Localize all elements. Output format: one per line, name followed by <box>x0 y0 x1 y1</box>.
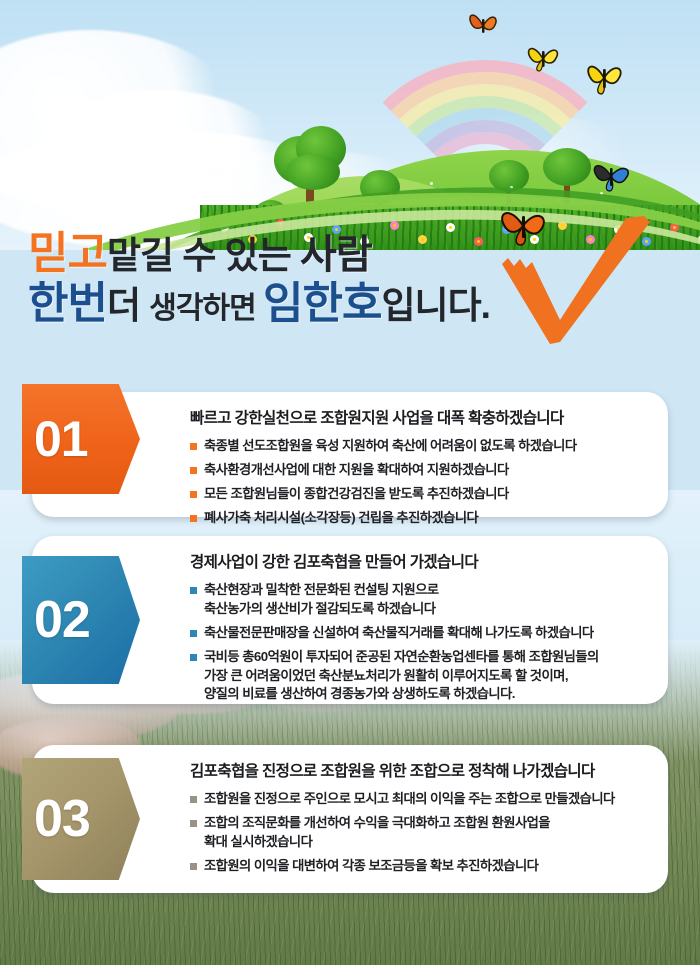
section-2-number-badge: 02 <box>22 556 140 684</box>
headline-word-saram: 사람 <box>300 233 372 277</box>
list-item: 축종별 선도조합원을 육성 지원하여 축산에 어려움이 없도록 하겠습니다 <box>190 437 650 456</box>
headline-word-saenggakhamyeon: 생각하면 <box>149 292 263 325</box>
headline-word-deo: 더 <box>107 285 149 326</box>
section-2-title: 경제사업이 강한 김포축협을 만들어 가겠습니다 <box>190 550 650 572</box>
list-item: 조합원을 진정으로 주인으로 모시고 최대의 이익을 주는 조합으로 만들겠습니… <box>190 790 650 809</box>
bullet-text: 축종별 선도조합원을 육성 지원하여 축산에 어려움이 없도록 하겠습니다 <box>204 437 577 456</box>
bullet-square-icon <box>190 820 197 827</box>
section-1-number: 01 <box>22 410 88 468</box>
section-1-title: 빠르고 강한실천으로 조합원지원 사업을 대폭 확충하겠습니다 <box>190 406 650 428</box>
list-item: 국비등 총60억원이 투자되어 준공된 자연순환농업센타를 통해 조합원님들의 … <box>190 648 650 705</box>
list-item: 폐사가축 처리시설(소각장등) 건립을 추진하겠습니다 <box>190 509 650 528</box>
bullet-square-icon <box>190 515 197 522</box>
campaign-poster: 믿고맡길 수 있는 사람 한번더 생각하면 임한호입니다. 빠르고 강한실천으로… <box>0 0 700 965</box>
headline-word-matgil: 맡길 수 있는 <box>107 235 300 276</box>
yellow-butterfly-icon <box>524 40 562 74</box>
bullet-text: 모든 조합원님들이 종합건강검진을 받도록 추진하겠습니다 <box>204 485 509 504</box>
section-3-title: 김포축협을 진정으로 조합원을 위한 조합으로 정착해 나가겠습니다 <box>190 759 650 781</box>
bullet-text: 조합원을 진정으로 주인으로 모시고 최대의 이익을 주는 조합으로 만들겠습니… <box>204 790 615 809</box>
section-3-number-badge: 03 <box>22 758 140 880</box>
headline-word-imnida: 입니다. <box>382 285 490 326</box>
bullet-text: 국비등 총60억원이 투자되어 준공된 자연순환농업센타를 통해 조합원님들의 … <box>204 648 599 705</box>
list-item: 조합원의 이익을 대변하여 각종 보조금등을 확보 추진하겠습니다 <box>190 857 650 876</box>
bullet-text: 조합원의 이익을 대변하여 각종 보조금등을 확보 추진하겠습니다 <box>204 857 538 876</box>
bullet-text: 폐사가축 처리시설(소각장등) 건립을 추진하겠습니다 <box>204 509 478 528</box>
yellow-butterfly-icon <box>582 56 626 98</box>
list-item: 축사환경개선사업에 대한 지원을 확대하여 지원하겠습니다 <box>190 461 650 480</box>
section-3-bullets: 조합원을 진정으로 주인으로 모시고 최대의 이익을 주는 조합으로 만들겠습니… <box>190 790 650 876</box>
list-item: 조합의 조직문화를 개선하여 수익을 극대화하고 조합원 환원사업을 확대 실시… <box>190 814 650 852</box>
bullet-square-icon <box>190 796 197 803</box>
section-2-bullets: 축산현장과 밀착한 전문화된 컨설팅 지원으로 축산농가의 생산비가 절감되도록… <box>190 581 650 704</box>
section-2-body: 경제사업이 강한 김포축협을 만들어 가겠습니다 축산현장과 밀착한 전문화된 … <box>190 550 650 709</box>
headline-word-mitgo: 믿고 <box>28 229 107 278</box>
bullet-square-icon <box>190 467 197 474</box>
list-item: 축산현장과 밀착한 전문화된 컨설팅 지원으로 축산농가의 생산비가 절감되도록… <box>190 581 650 619</box>
bullet-square-icon <box>190 863 197 870</box>
bullet-text: 조합의 조직문화를 개선하여 수익을 극대화하고 조합원 환원사업을 확대 실시… <box>204 814 550 852</box>
section-2-number: 02 <box>22 590 90 650</box>
bullet-text: 축산현장과 밀착한 전문화된 컨설팅 지원으로 축산농가의 생산비가 절감되도록… <box>204 581 439 619</box>
section-1-bullets: 축종별 선도조합원을 육성 지원하여 축산에 어려움이 없도록 하겠습니다 축사… <box>190 437 650 528</box>
headline-word-hanbeon: 한번 <box>28 279 107 328</box>
bullet-text: 축산물전문판매장을 신설하여 축산물직거래를 확대해 나가도록 하겠습니다 <box>204 624 594 643</box>
section-3-body: 김포축협을 진정으로 조합원을 위한 조합으로 정착해 나가겠습니다 조합원을 … <box>190 759 650 881</box>
section-3-number: 03 <box>22 789 90 849</box>
orange-check-icon <box>498 216 658 356</box>
bullet-square-icon <box>190 587 197 594</box>
section-1-body: 빠르고 강한실천으로 조합원지원 사업을 대폭 확충하겠습니다 축종별 선도조합… <box>190 406 650 533</box>
bullet-square-icon <box>190 491 197 498</box>
bullet-text: 축사환경개선사업에 대한 지원을 확대하여 지원하겠습니다 <box>204 461 509 480</box>
list-item: 모든 조합원님들이 종합건강검진을 받도록 추진하겠습니다 <box>190 485 650 504</box>
bullet-square-icon <box>190 443 197 450</box>
blue-butterfly-icon <box>588 156 634 196</box>
headline-candidate-name: 임한호 <box>263 279 381 328</box>
hill-illustration <box>0 0 700 250</box>
bullet-square-icon <box>190 630 197 637</box>
section-1-number-badge: 01 <box>22 384 140 494</box>
bullet-square-icon <box>190 654 197 661</box>
orange-butterfly-icon <box>466 8 500 40</box>
list-item: 축산물전문판매장을 신설하여 축산물직거래를 확대해 나가도록 하겠습니다 <box>190 624 650 643</box>
